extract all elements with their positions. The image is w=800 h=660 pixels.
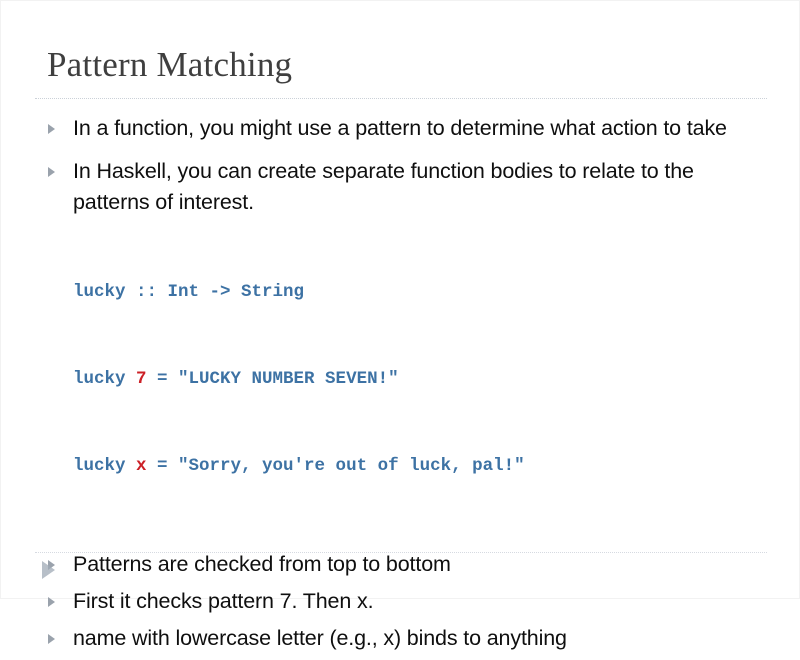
list-item: Patterns are checked from top to bottom xyxy=(45,549,757,580)
list-item-label: First it checks pattern 7. Then x. xyxy=(73,586,757,617)
list-item: First it checks pattern 7. Then x. xyxy=(45,586,757,617)
list-item-label: In a function, you might use a pattern t… xyxy=(73,113,757,144)
code-token-suffix: = "Sorry, you're out of luck, pal!" xyxy=(147,456,525,476)
code-token-prefix: lucky xyxy=(73,456,136,476)
slide: Pattern Matching In a function, you migh… xyxy=(0,0,800,599)
bullet-list: In a function, you might use a pattern t… xyxy=(45,113,757,660)
page-title: Pattern Matching xyxy=(47,45,292,85)
code-token-pattern-variable: x xyxy=(136,456,147,476)
code-line-signature: lucky :: Int -> String xyxy=(73,278,757,307)
code-token-prefix: lucky xyxy=(73,369,136,389)
list-item: name with lowercase letter (e.g., x) bin… xyxy=(45,623,757,654)
list-item: In a function, you might use a pattern t… xyxy=(45,113,757,144)
footer-divider xyxy=(35,552,767,553)
list-item-label: Patterns are checked from top to bottom xyxy=(73,549,757,580)
code-block: lucky :: Int -> String lucky 7 = "LUCKY … xyxy=(45,220,757,539)
triangle-right-icon xyxy=(48,124,55,134)
code-token-suffix: = "LUCKY NUMBER SEVEN!" xyxy=(147,369,399,389)
title-divider xyxy=(35,98,767,99)
list-item-label: name with lowercase letter (e.g., x) bin… xyxy=(73,623,757,654)
list-item: In Haskell, you can create separate func… xyxy=(45,156,757,218)
code-line-lucky-seven: lucky 7 = "LUCKY NUMBER SEVEN!" xyxy=(73,365,757,394)
next-slide-triangle-icon[interactable] xyxy=(42,561,55,579)
triangle-right-icon xyxy=(48,634,55,644)
code-token-pattern-variable: 7 xyxy=(136,369,147,389)
triangle-right-icon xyxy=(48,167,55,177)
list-item-label: In Haskell, you can create separate func… xyxy=(73,156,757,218)
code-line-lucky-x: lucky x = "Sorry, you're out of luck, pa… xyxy=(73,452,757,481)
